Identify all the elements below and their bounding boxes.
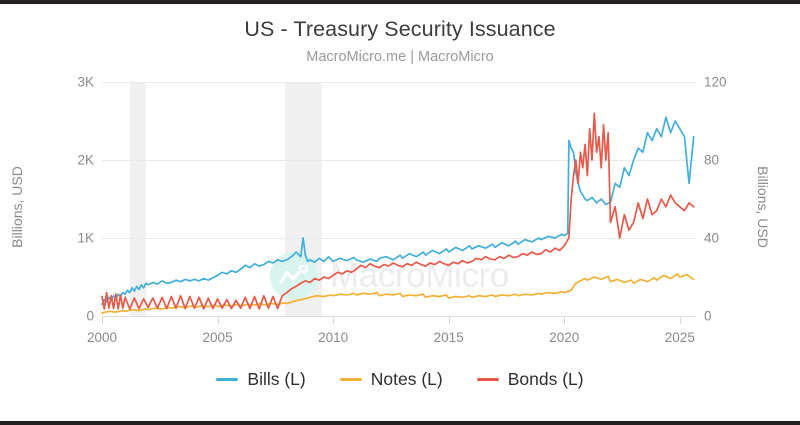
legend-item-bonds[interactable]: Bonds (L)	[477, 369, 584, 390]
legend-swatch-icon	[216, 378, 238, 382]
y-axis-right-title: Billions, USD	[755, 127, 771, 287]
series-line-bonds	[102, 113, 694, 309]
chart-title: US - Treasury Security Issuance	[0, 17, 800, 42]
x-axis-tick-mark	[218, 316, 219, 324]
legend-swatch-icon	[477, 378, 499, 382]
legend-label: Bonds (L)	[508, 369, 584, 390]
y-axis-right-ticks: 04080120	[704, 82, 748, 316]
legend-label: Notes (L)	[371, 369, 443, 390]
plot-area: MacroMicro	[102, 82, 696, 316]
x-axis-baseline	[102, 316, 696, 317]
y-axis-left-tick-label: 2K	[54, 153, 94, 168]
x-axis-tick-label: 2025	[665, 330, 695, 345]
chart-subtitle: MacroMicro.me | MacroMicro	[0, 49, 800, 65]
chart-legend: Bills (L)Notes (L)Bonds (L)	[0, 369, 800, 390]
x-axis-ticks: 200020052010201520202025	[102, 324, 696, 350]
x-axis-tick-mark	[564, 316, 565, 324]
x-axis-tick-mark	[449, 316, 450, 324]
chart-card: US - Treasury Security Issuance MacroMic…	[0, 0, 800, 425]
x-axis-tick-label: 2020	[549, 330, 579, 345]
x-axis-tick-label: 2015	[434, 330, 464, 345]
legend-item-bills[interactable]: Bills (L)	[216, 369, 305, 390]
y-axis-left-ticks: 01K2K3K	[50, 82, 94, 316]
x-axis-tick-mark	[333, 316, 334, 324]
x-axis-tick-mark	[102, 316, 103, 324]
y-axis-left-tick-label: 3K	[54, 75, 94, 90]
y-axis-right-tick-label: 0	[704, 309, 746, 324]
y-axis-right-tick-label: 120	[704, 75, 746, 90]
x-axis-tick-mark	[680, 316, 681, 324]
x-axis-tick-label: 2000	[87, 330, 117, 345]
y-axis-right-tick-label: 80	[704, 153, 746, 168]
series-lines	[102, 82, 696, 316]
x-axis-tick-label: 2005	[203, 330, 233, 345]
y-axis-right-tick-label: 40	[704, 231, 746, 246]
legend-swatch-icon	[340, 378, 362, 382]
legend-item-notes[interactable]: Notes (L)	[340, 369, 443, 390]
y-axis-left-tick-label: 1K	[54, 231, 94, 246]
x-axis-tick-label: 2010	[318, 330, 348, 345]
y-axis-left-title: Billions, USD	[9, 127, 25, 287]
y-axis-left-tick-label: 0	[54, 309, 94, 324]
legend-label: Bills (L)	[247, 369, 305, 390]
